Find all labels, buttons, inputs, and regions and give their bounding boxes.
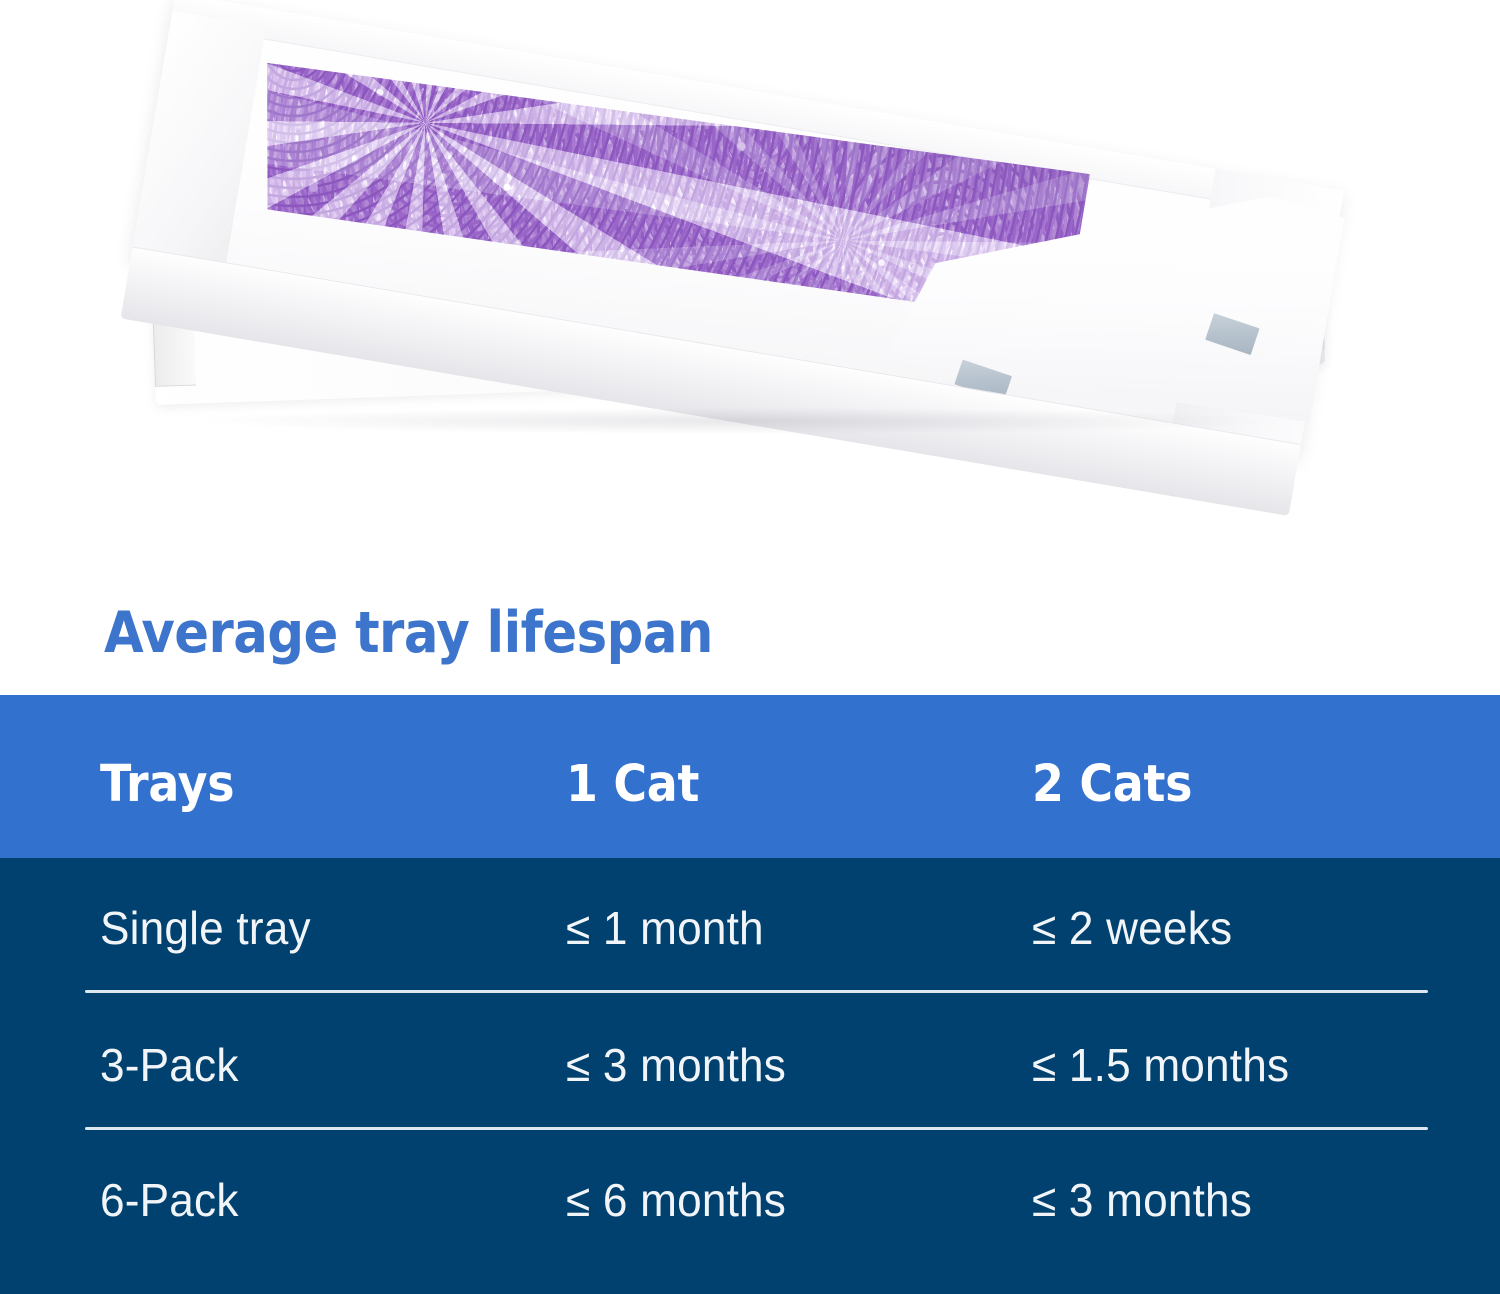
table-row: ≤ 3 months <box>1032 1173 1252 1227</box>
page-title: Average tray lifespan <box>104 600 713 666</box>
column-header-one-cat: 1 Cat <box>566 755 699 814</box>
title-area: Average tray lifespan <box>0 560 1500 695</box>
table-header-row: Trays 1 Cat 2 Cats <box>0 695 1500 858</box>
top-tray <box>120 0 1343 516</box>
table-row: ≤ 3 months <box>566 1038 786 1092</box>
column-header-trays: Trays <box>100 755 234 814</box>
row-divider <box>85 1127 1428 1130</box>
table-body: Single tray ≤ 1 month ≤ 2 weeks 3-Pack ≤… <box>0 858 1500 1294</box>
table-row: 6-Pack <box>100 1173 239 1227</box>
table-row: ≤ 1 month <box>566 901 764 955</box>
table-row: ≤ 2 weeks <box>1032 901 1232 955</box>
column-header-two-cats: 2 Cats <box>1032 755 1192 814</box>
row-divider <box>85 990 1428 993</box>
table-row: ≤ 1.5 months <box>1032 1038 1289 1092</box>
drop-shadow <box>200 408 1280 434</box>
table-row: ≤ 6 months <box>566 1173 786 1227</box>
lifespan-table: Trays 1 Cat 2 Cats Single tray ≤ 1 month… <box>0 695 1500 1294</box>
table-row: Single tray <box>100 901 311 955</box>
table-row: 3-Pack <box>100 1038 239 1092</box>
